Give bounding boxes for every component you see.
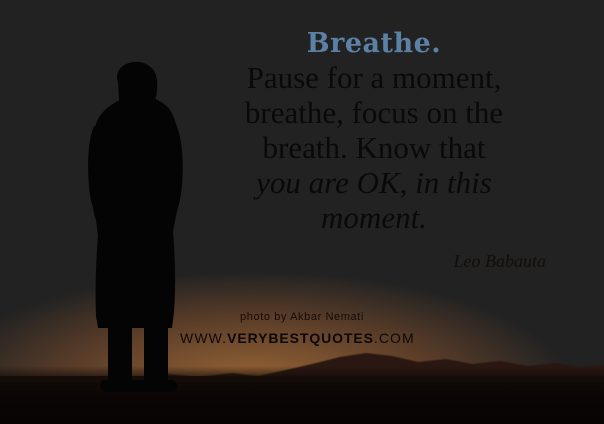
- headline-breathe: Breathe.: [188, 30, 560, 58]
- photo-credit: photo by Akbar Nemati: [210, 311, 394, 323]
- watermark-prefix: WWW.: [180, 330, 227, 346]
- quote-line-2: breathe, focus on the: [188, 95, 560, 130]
- watermark-brand: VERYBESTQUOTES: [227, 330, 374, 346]
- site-watermark: WWW.VERYBESTQUOTES.COM: [180, 330, 394, 346]
- quote-author: Leo Babauta: [188, 251, 560, 272]
- quote-image: Breathe. Pause for a moment, breathe, fo…: [0, 0, 604, 424]
- quote-text-block: Breathe. Pause for a moment, breathe, fo…: [188, 30, 560, 272]
- watermark-suffix: .COM: [374, 330, 415, 346]
- quote-line-3: breath. Know that: [188, 130, 560, 165]
- quote-line-1: Pause for a moment,: [188, 60, 560, 95]
- person-silhouette: [74, 60, 196, 392]
- quote-line-5: moment.: [188, 200, 560, 235]
- quote-line-4: you are OK, in this: [188, 165, 560, 200]
